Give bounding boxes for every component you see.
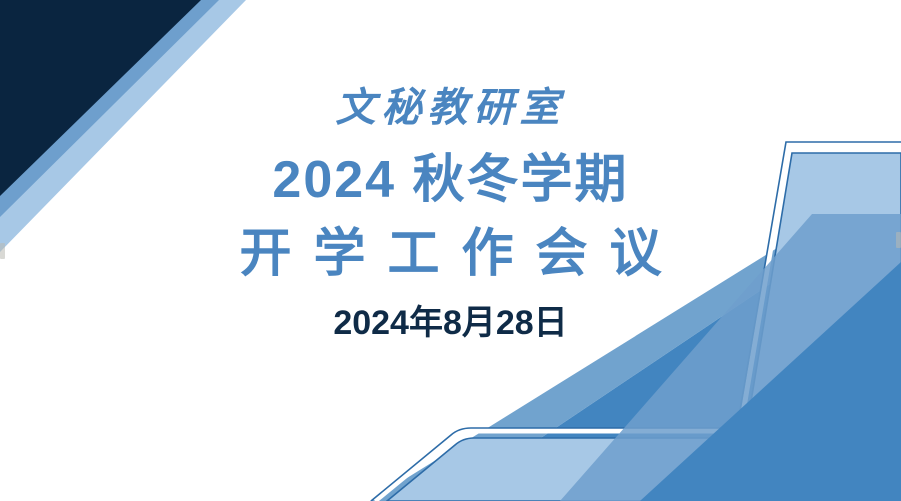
title-slide: 文秘教研室 2024 秋冬学期 开学工作会议 2024年8月28日 [0, 0, 901, 501]
right-edge-handle-mark [896, 232, 901, 248]
decoration-layer [0, 0, 901, 501]
left-edge-handle-mark [0, 243, 5, 259]
